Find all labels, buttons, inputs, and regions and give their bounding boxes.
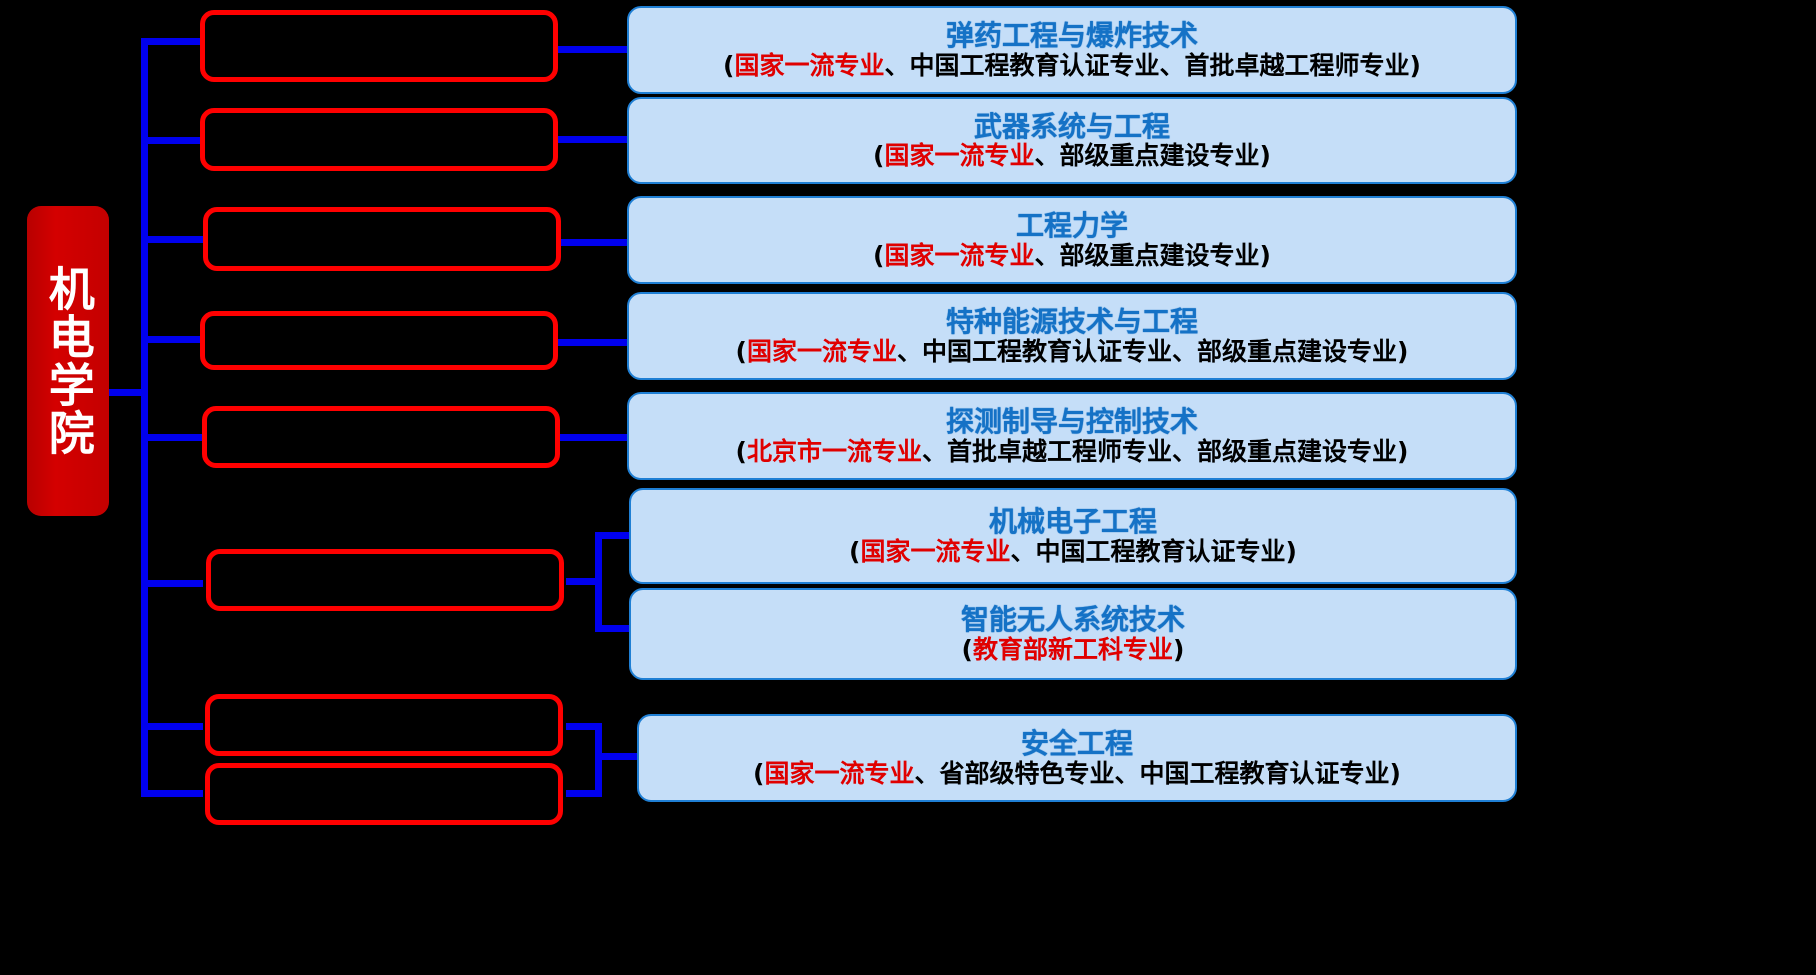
major-sub-highlight-8: 国家一流专业: [764, 759, 914, 788]
connector-mid-info-6-bot: [595, 625, 631, 632]
major-sub-rest-4: 、中国工程教育认证专业、部级重点建设专业): [897, 337, 1408, 366]
major-subtitle-4: (国家一流专业、中国工程教育认证专业、部级重点建设专业): [736, 338, 1409, 366]
major-subtitle-7: (教育部新工科专业): [962, 636, 1185, 664]
major-sub-rest-3: 、部级重点建设专业): [1035, 241, 1271, 270]
connector-branch-2: [141, 137, 203, 144]
major-title-8: 安全工程: [1021, 728, 1133, 759]
major-sub-highlight-6: 国家一流专业: [860, 537, 1010, 566]
major-title-1: 弹药工程与爆炸技术: [946, 20, 1198, 51]
major-box-5[interactable]: 探测制导与控制技术 (北京市一流专业、首批卓越工程师专业、部级重点建设专业): [627, 392, 1517, 480]
department-box-8[interactable]: [205, 763, 563, 825]
major-box-6[interactable]: 机械电子工程 (国家一流专业、中国工程教育认证专业): [629, 488, 1517, 584]
major-box-7[interactable]: 智能无人系统技术 (教育部新工科专业): [629, 588, 1517, 680]
major-sub-open-1: (: [723, 51, 734, 80]
major-subtitle-8: (国家一流专业、省部级特色专业、中国工程教育认证专业): [753, 760, 1401, 788]
major-sub-rest-2: 、部级重点建设专业): [1035, 141, 1271, 170]
major-title-7: 智能无人系统技术: [961, 604, 1185, 635]
major-subtitle-1: (国家一流专业、中国工程教育认证专业、首批卓越工程师专业): [723, 52, 1421, 80]
department-box-4[interactable]: [200, 311, 558, 370]
connector-mid-info-6-spine: [595, 532, 602, 632]
major-sub-open-7: (: [962, 635, 973, 664]
major-sub-rest-1: 、中国工程教育认证专业、首批卓越工程师专业): [885, 51, 1421, 80]
major-title-5: 探测制导与控制技术: [946, 406, 1198, 437]
major-sub-highlight-2: 国家一流专业: [884, 141, 1034, 170]
major-sub-open-8: (: [753, 759, 764, 788]
department-box-5[interactable]: [202, 406, 560, 468]
department-box-1[interactable]: [200, 10, 558, 82]
major-sub-open-3: (: [873, 241, 884, 270]
connector-mid-info-78-spine: [595, 723, 602, 797]
department-box-6[interactable]: [206, 549, 564, 611]
major-sub-rest-5: 、首批卓越工程师专业、部级重点建设专业): [922, 437, 1408, 466]
major-sub-highlight-1: 国家一流专业: [734, 51, 884, 80]
connector-branch-6: [141, 580, 203, 587]
connector-mid-info-6-top: [595, 532, 631, 539]
major-subtitle-5: (北京市一流专业、首批卓越工程师专业、部级重点建设专业): [736, 438, 1409, 466]
major-sub-rest-6: 、中国工程教育认证专业): [1011, 537, 1297, 566]
major-sub-open-5: (: [736, 437, 747, 466]
connector-mid-info-5: [556, 434, 628, 441]
connector-branch-4: [141, 336, 203, 343]
major-subtitle-2: (国家一流专业、部级重点建设专业): [873, 142, 1271, 170]
connector-mid-info-4: [556, 339, 628, 346]
connector-branch-7: [141, 723, 203, 730]
major-box-4[interactable]: 特种能源技术与工程 (国家一流专业、中国工程教育认证专业、部级重点建设专业): [627, 292, 1517, 380]
major-box-2[interactable]: 武器系统与工程 (国家一流专业、部级重点建设专业): [627, 97, 1517, 184]
root-node-mechatronics-college[interactable]: 机电学院: [27, 206, 109, 516]
major-sub-highlight-3: 国家一流专业: [884, 241, 1034, 270]
major-title-4: 特种能源技术与工程: [946, 306, 1198, 337]
major-box-8[interactable]: 安全工程 (国家一流专业、省部级特色专业、中国工程教育认证专业): [637, 714, 1517, 802]
major-sub-highlight-7: 教育部新工科专业: [973, 635, 1173, 664]
major-sub-highlight-5: 北京市一流专业: [747, 437, 922, 466]
major-box-3[interactable]: 工程力学 (国家一流专业、部级重点建设专业): [627, 196, 1517, 284]
major-sub-open-6: (: [849, 537, 860, 566]
root-node-label: 机电学院: [44, 265, 91, 457]
major-subtitle-3: (国家一流专业、部级重点建设专业): [873, 242, 1271, 270]
major-box-1[interactable]: 弹药工程与爆炸技术 (国家一流专业、中国工程教育认证专业、首批卓越工程师专业): [627, 6, 1517, 94]
major-sub-open-4: (: [736, 337, 747, 366]
connector-branch-5: [141, 434, 203, 441]
major-subtitle-6: (国家一流专业、中国工程教育认证专业): [849, 538, 1297, 566]
connector-mid-info-3: [556, 239, 628, 246]
connector-branch-8: [141, 790, 203, 797]
major-sub-open-2: (: [873, 141, 884, 170]
major-title-3: 工程力学: [1016, 210, 1128, 241]
diagram-canvas: 机电学院 弹药工程与爆炸技术 (国家一流专业、中国工程教育认证专业、首批卓越工程…: [0, 0, 1816, 975]
department-box-3[interactable]: [203, 207, 561, 271]
connector-branch-1: [141, 38, 203, 45]
major-sub-rest-7: ): [1173, 635, 1184, 664]
connector-mid-info-1: [556, 46, 628, 53]
major-title-6: 机械电子工程: [989, 506, 1157, 537]
department-box-7[interactable]: [205, 694, 563, 756]
department-box-2[interactable]: [200, 108, 558, 171]
connector-spine: [141, 41, 148, 797]
major-sub-rest-8: 、省部级特色专业、中国工程教育认证专业): [915, 759, 1401, 788]
connector-branch-3: [141, 236, 203, 243]
major-sub-highlight-4: 国家一流专业: [747, 337, 897, 366]
major-title-2: 武器系统与工程: [974, 111, 1170, 142]
connector-mid-info-2: [556, 136, 628, 143]
